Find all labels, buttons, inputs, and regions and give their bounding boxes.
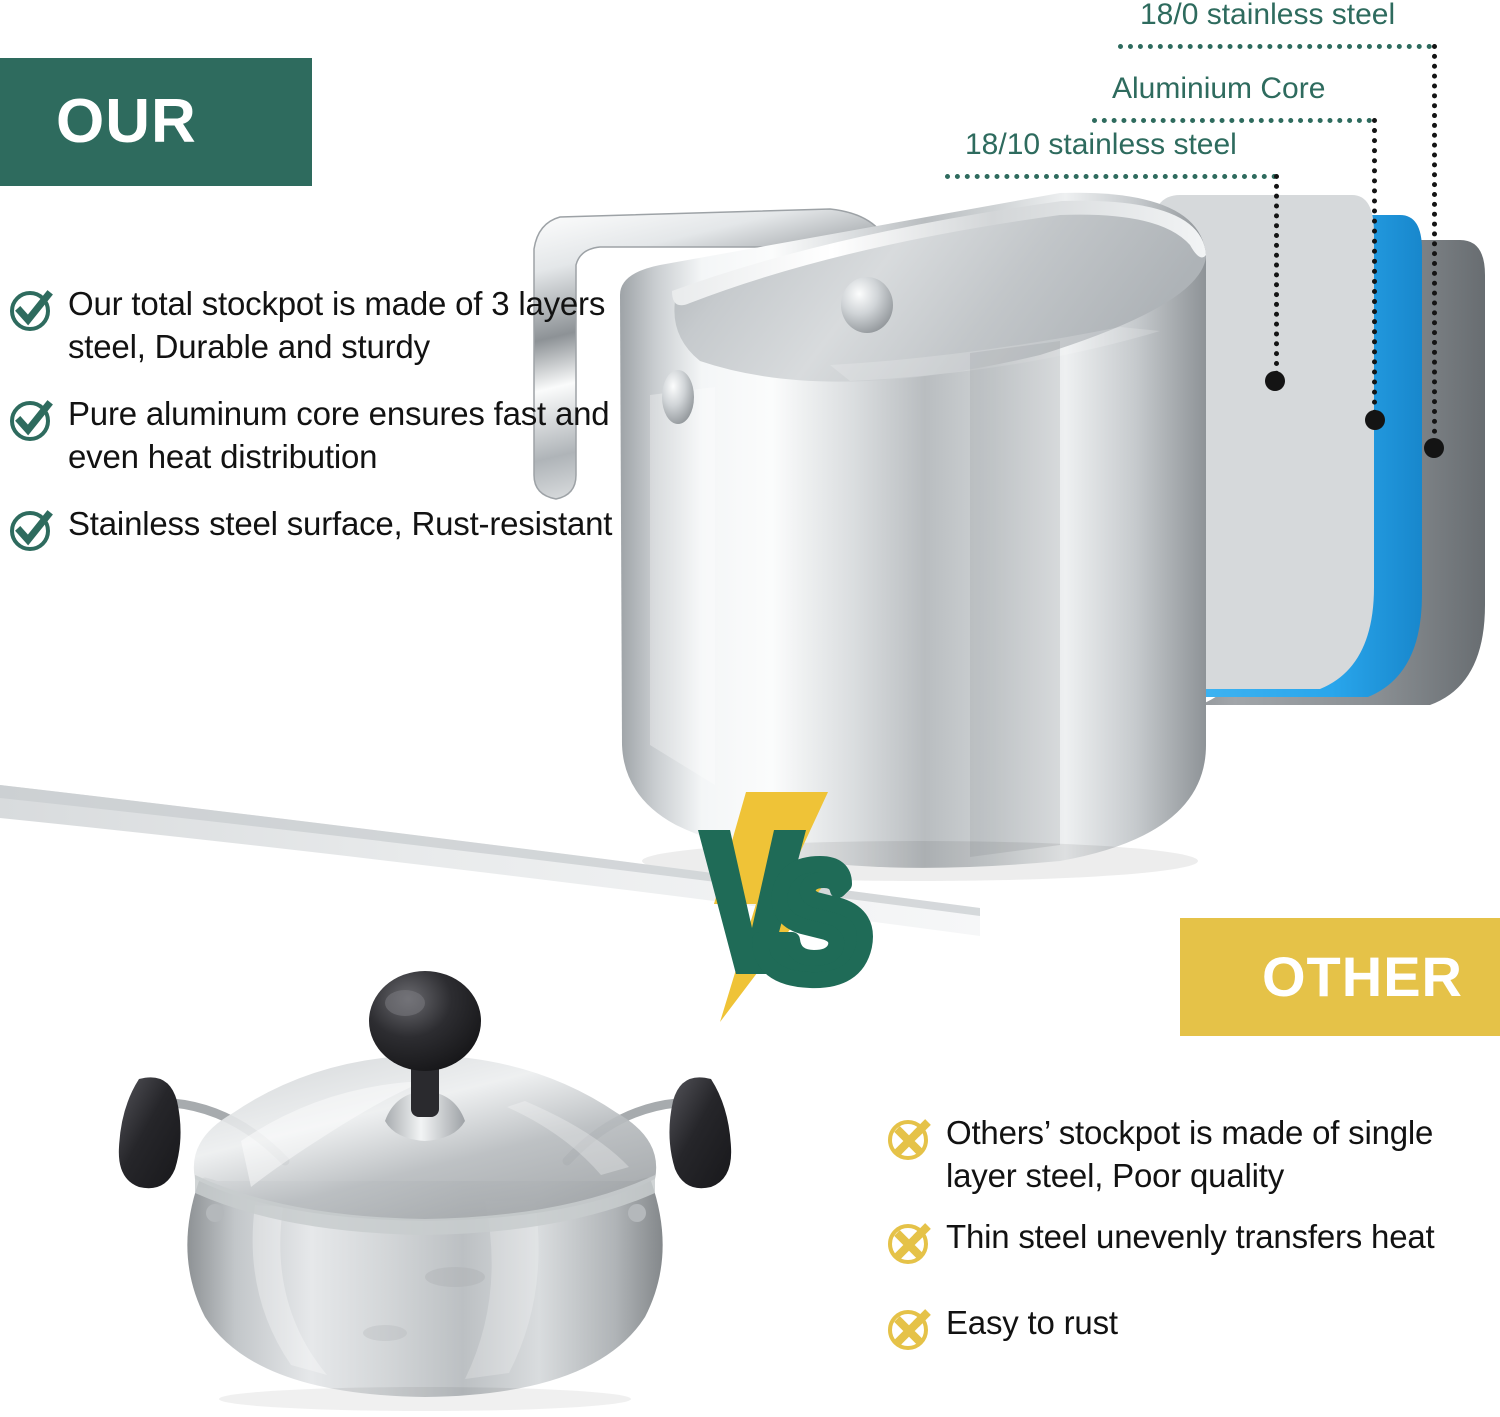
callout-label-18-10: 18/10 stainless steel [965,128,1237,162]
callout-hline-18-10 [945,174,1277,179]
list-item: Easy to rust [886,1302,1492,1352]
callout-dot-18-0 [1424,438,1444,458]
list-item-label: Stainless steel surface, Rust-resistant [68,503,612,546]
other-handle-grip-right [669,1077,731,1188]
cross-circle-icon [886,1116,932,1162]
other-badge: OTHER [1180,918,1500,1036]
callout-hline-18-0 [1118,44,1432,49]
callout-label-aluminium-core: Aluminium Core [1112,72,1325,106]
callout-vline-aluminium-core [1372,118,1377,415]
list-item: Stainless steel surface, Rust-resistant [8,503,656,553]
list-item-label: Others’ stockpot is made of single layer… [946,1112,1492,1198]
other-feature-list: Others’ stockpot is made of single layer… [886,1112,1492,1378]
list-item: Thin steel unevenly transfers heat [886,1216,1492,1266]
other-handle-grip-left [119,1077,181,1188]
list-item-label: Easy to rust [946,1302,1118,1345]
infographic-canvas: 18/0 stainless steel Aluminium Core 18/1… [0,0,1500,1417]
callout-vline-18-0 [1432,44,1437,444]
list-item: Pure aluminum core ensures fast and even… [8,393,656,479]
list-item: Others’ stockpot is made of single layer… [886,1112,1492,1198]
pot-rivet-lower [662,370,694,424]
other-pot-rivet-left [206,1204,224,1222]
our-feature-list: Our total stockpot is made of 3 layers s… [8,283,656,577]
callout-label-18-0: 18/0 stainless steel [1140,0,1395,32]
callout-vline-18-10 [1274,174,1279,376]
other-lid-knob [369,971,481,1071]
cross-circle-icon [886,1306,932,1352]
our-badge: OUR [0,58,312,186]
list-item-label: Pure aluminum core ensures fast and even… [68,393,656,479]
other-pot-rivet-right [628,1204,646,1222]
list-item-label: Our total stockpot is made of 3 layers s… [68,283,656,369]
other-stockpot-image [55,925,795,1415]
other-badge-label: OTHER [1262,949,1463,1005]
list-item-label: Thin steel unevenly transfers heat [946,1216,1434,1259]
our-badge-label: OUR [56,91,197,153]
list-item: Our total stockpot is made of 3 layers s… [8,283,656,369]
check-circle-icon [8,397,54,443]
callout-hline-aluminium-core [1092,118,1372,123]
pot-rivet-top [841,277,893,333]
callout-dot-aluminium-core [1365,410,1385,430]
callout-dot-18-10 [1265,371,1285,391]
check-circle-icon [8,287,54,333]
cross-circle-icon [886,1220,932,1266]
check-circle-icon [8,507,54,553]
